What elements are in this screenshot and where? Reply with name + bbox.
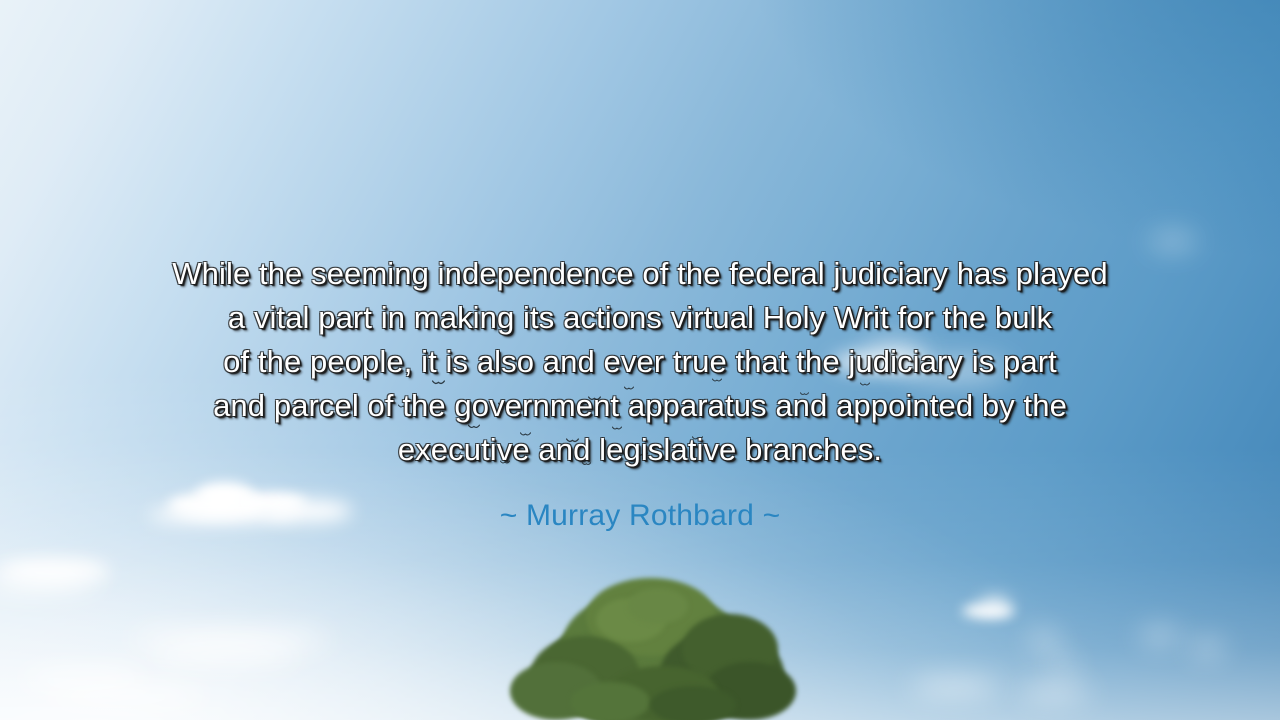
quote-text-block: While the seeming independence of the fe… bbox=[0, 252, 1280, 472]
quote-line: of the people, it is also and ever true … bbox=[0, 340, 1280, 384]
quote-card: While the seeming independence of the fe… bbox=[0, 0, 1280, 720]
quote-line: a vital part in making its actions virtu… bbox=[0, 296, 1280, 340]
quote-line: While the seeming independence of the fe… bbox=[0, 252, 1280, 296]
quote-line: and parcel of the government apparatus a… bbox=[0, 384, 1280, 428]
quote-line: executive and legislative branches. bbox=[0, 428, 1280, 472]
quote-attribution: ~ Murray Rothbard ~ bbox=[0, 498, 1280, 534]
tree bbox=[500, 570, 800, 720]
